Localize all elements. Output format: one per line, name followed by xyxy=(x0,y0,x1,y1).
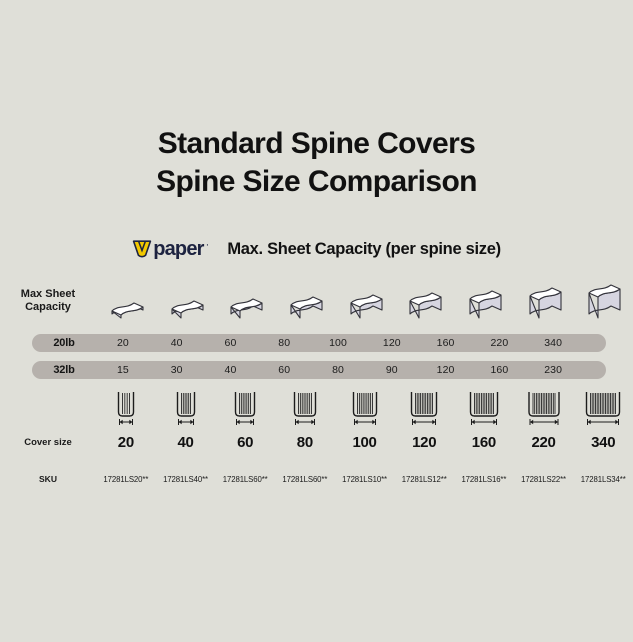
paper-stack-icon xyxy=(163,279,209,325)
paper-stack-cell xyxy=(454,277,514,325)
capacity-value-20lb: 60 xyxy=(204,337,258,349)
cover-size-cells: 20406080100120160220340 xyxy=(96,434,633,451)
logo-trademark: · xyxy=(206,239,210,251)
spine-bracket-icon xyxy=(164,390,208,430)
width-arrow-icon xyxy=(354,419,375,425)
width-arrow-icon xyxy=(471,419,496,425)
paper-stack-icon xyxy=(222,279,268,325)
width-arrow-icon xyxy=(295,419,314,425)
capacity-value-32lb: 60 xyxy=(257,364,311,376)
capacity-value-32lb: 230 xyxy=(526,364,580,376)
cover-size-value: 20 xyxy=(96,434,156,451)
paper-stack-icon xyxy=(282,279,328,325)
sku-value: 17281LS60** xyxy=(215,475,275,484)
sku-cells: 17281LS20**17281LS40**17281LS60**17281LS… xyxy=(96,475,633,484)
paper-stack-cell xyxy=(514,277,574,325)
cover-size-value: 40 xyxy=(156,434,216,451)
capacity-cells-32lb: 153040608090120160230 xyxy=(96,364,606,376)
cover-size-value: 60 xyxy=(215,434,275,451)
capacity-value-32lb: 90 xyxy=(365,364,419,376)
capacity-value-20lb: 40 xyxy=(150,337,204,349)
paper-stack-cell xyxy=(335,277,395,325)
capacity-value-20lb: 220 xyxy=(472,337,526,349)
cover-size-row: Cover size 20406080100120160220340 xyxy=(0,432,633,452)
width-arrow-icon xyxy=(530,419,558,425)
spine-bracket-icon xyxy=(402,390,446,430)
paper-stack-icon xyxy=(461,279,507,325)
capacity-value-32lb: 80 xyxy=(311,364,365,376)
capacity-value-32lb: 40 xyxy=(204,364,258,376)
width-arrow-icon xyxy=(178,419,193,425)
spine-size-comparison-infographic: { "background_color": "#dfdfd8", "title"… xyxy=(0,0,633,642)
cover-size-label: Cover size xyxy=(0,436,96,449)
paper-stack-icon xyxy=(103,279,149,325)
weight-label-20lb: 20lb xyxy=(32,337,96,349)
capacity-value-32lb: 120 xyxy=(419,364,473,376)
paper-stack-cell xyxy=(573,277,633,325)
spine-bracket-icon xyxy=(223,390,267,430)
capacity-value-32lb: 160 xyxy=(472,364,526,376)
subtitle: Max. Sheet Capacity (per spine size) xyxy=(227,240,500,259)
spine-icon-cell xyxy=(573,388,633,430)
capacity-value-20lb: 340 xyxy=(526,337,580,349)
capacity-value-20lb: 20 xyxy=(96,337,150,349)
max-sheet-capacity-label-line2: Capacity xyxy=(25,301,71,313)
spine-icon-cell xyxy=(156,388,216,430)
weight-label-32lb: 32lb xyxy=(32,364,96,376)
capacity-value-20lb: 100 xyxy=(311,337,365,349)
sku-value: 17281LS60** xyxy=(275,475,335,484)
capacity-value-32lb: 30 xyxy=(150,364,204,376)
capacity-value-20lb: 160 xyxy=(419,337,473,349)
capacity-row-32lb: 32lb 153040608090120160230 xyxy=(32,361,606,379)
cover-size-value: 340 xyxy=(573,434,633,451)
paper-stack-cell xyxy=(156,277,216,325)
capacity-value-32lb: 15 xyxy=(96,364,150,376)
sku-value: 17281LS10** xyxy=(335,475,395,484)
sku-value: 17281LS12** xyxy=(394,475,454,484)
width-arrow-icon xyxy=(119,419,132,425)
sku-value: 17281LS34** xyxy=(573,475,633,484)
paper-stack-cell xyxy=(96,277,156,325)
logo-word: paper xyxy=(153,239,203,259)
paper-stack-icon xyxy=(401,279,447,325)
cover-size-value: 220 xyxy=(514,434,574,451)
paper-stack-cell xyxy=(394,277,454,325)
spine-icon-cells xyxy=(96,388,633,430)
capacity-row-20lb: 20lb 20406080100120160220340 xyxy=(32,334,606,352)
sku-value: 17281LS16** xyxy=(454,475,514,484)
vpaper-logo: paper · xyxy=(132,239,209,259)
capacity-value-20lb: 80 xyxy=(257,337,311,349)
cover-size-value: 160 xyxy=(454,434,514,451)
width-arrow-icon xyxy=(588,419,619,425)
spine-icon-cell xyxy=(514,388,574,430)
spine-bracket-icon xyxy=(283,390,327,430)
spine-icon-cell xyxy=(96,388,156,430)
subheader: paper · Max. Sheet Capacity (per spine s… xyxy=(0,239,633,259)
spine-icon-cell xyxy=(394,388,454,430)
paper-stack-cell xyxy=(215,277,275,325)
title-line-2: Spine Size Comparison xyxy=(0,163,633,201)
cover-size-value: 120 xyxy=(394,434,454,451)
paper-stack-icon xyxy=(521,279,567,325)
sku-value: 17281LS22** xyxy=(514,475,574,484)
paper-stack-icon xyxy=(342,279,388,325)
title-line-1: Standard Spine Covers xyxy=(0,125,633,163)
logo-v-icon xyxy=(132,239,152,259)
paper-stack-cell xyxy=(275,277,335,325)
spine-bracket-icon xyxy=(343,390,387,430)
spine-bracket-icon xyxy=(581,390,625,430)
cover-size-value: 100 xyxy=(335,434,395,451)
sku-row: SKU 17281LS20**17281LS40**17281LS60**172… xyxy=(0,471,633,487)
capacity-cells-20lb: 20406080100120160220340 xyxy=(96,337,606,349)
spine-bracket-icon xyxy=(104,390,148,430)
paper-stack-cells xyxy=(96,277,633,325)
sku-value: 17281LS40** xyxy=(156,475,216,484)
capacity-value-20lb: 120 xyxy=(365,337,419,349)
width-arrow-icon xyxy=(237,419,254,425)
spine-icon-cell xyxy=(215,388,275,430)
spine-icon-row xyxy=(0,388,633,430)
max-sheet-capacity-label-line1: Max Sheet xyxy=(21,288,75,300)
sku-label: SKU xyxy=(0,473,96,486)
spine-icon-cell xyxy=(454,388,514,430)
spine-icon-cell xyxy=(335,388,395,430)
spine-bracket-icon xyxy=(462,390,506,430)
max-sheet-capacity-label: Max Sheet Capacity xyxy=(0,288,96,314)
spine-icon-cell xyxy=(275,388,335,430)
sku-value: 17281LS20** xyxy=(96,475,156,484)
paper-stack-row: Max Sheet Capacity xyxy=(0,277,633,325)
spine-bracket-icon xyxy=(522,390,566,430)
cover-size-value: 80 xyxy=(275,434,335,451)
paper-stack-icon xyxy=(580,279,626,325)
page-title: Standard Spine Covers Spine Size Compari… xyxy=(0,125,633,201)
width-arrow-icon xyxy=(413,419,436,425)
